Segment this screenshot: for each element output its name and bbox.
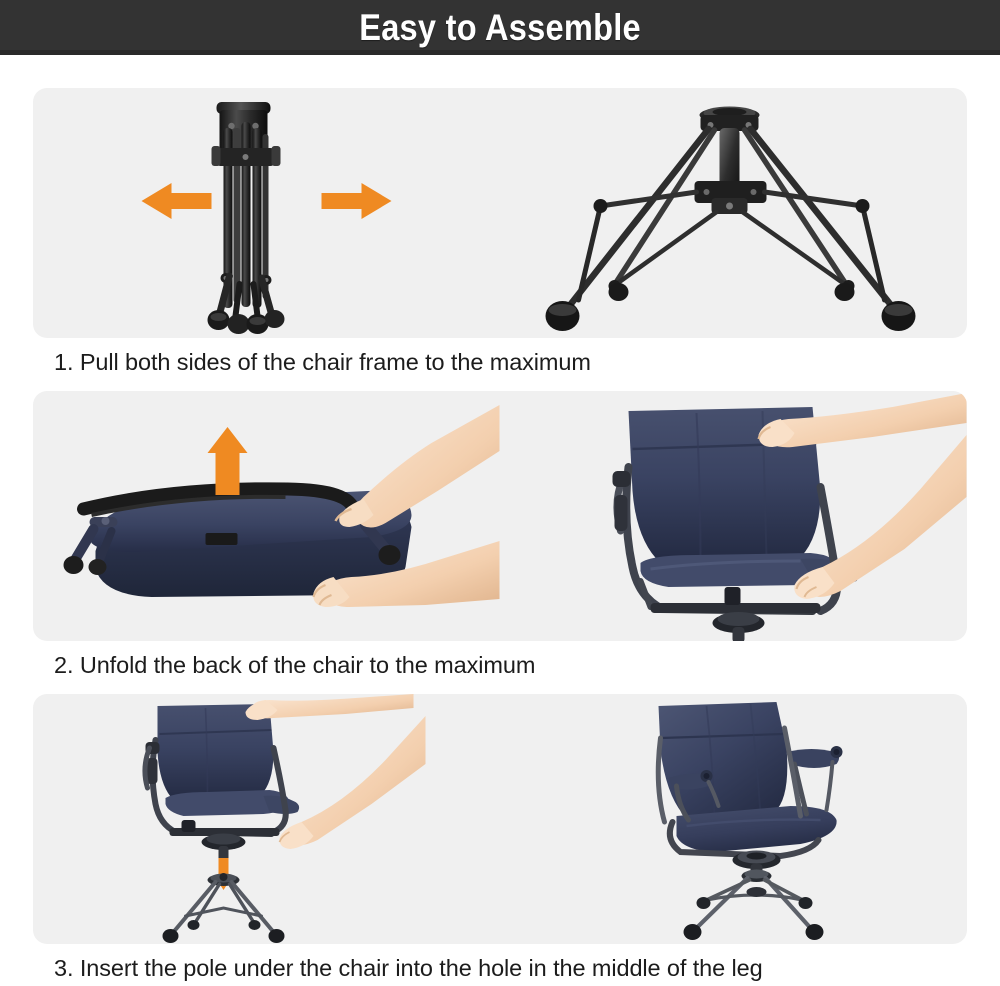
assembly-steps-list: 1. Pull both sides of the chair frame to… <box>0 88 1000 984</box>
inserting-pole-into-base-illustration <box>33 694 500 944</box>
assembly-step-1: 1. Pull both sides of the chair frame to… <box>33 88 967 378</box>
step-3-right-image <box>500 694 967 944</box>
page-title: Easy to Assemble <box>359 9 641 46</box>
arrow-right-icon <box>322 183 392 219</box>
step-2-image-panel <box>33 391 967 641</box>
step-2-caption: 2. Unfold the back of the chair to the m… <box>33 641 967 681</box>
header-bar: Easy to Assemble <box>0 0 1000 55</box>
step-1-caption: 1. Pull both sides of the chair frame to… <box>33 338 967 378</box>
assembled-chair-illustration <box>500 694 967 944</box>
step-3-left-image <box>33 694 500 944</box>
step-3-image-panel <box>33 694 967 944</box>
step-1-right-image <box>500 88 967 338</box>
folded-seat-with-hands-illustration <box>33 391 500 641</box>
arrow-left-icon <box>142 183 212 219</box>
assembly-step-3: 3. Insert the pole under the chair into … <box>33 694 967 984</box>
step-3-caption: 3. Insert the pole under the chair into … <box>33 944 967 984</box>
assembly-step-2: 2. Unfold the back of the chair to the m… <box>33 391 967 681</box>
unfolding-chair-back-illustration <box>500 391 967 641</box>
step-2-right-image <box>500 391 967 641</box>
step-2-left-image <box>33 391 500 641</box>
step-1-left-image <box>33 88 500 338</box>
unfolded-base-frame-illustration <box>500 88 967 338</box>
step-1-image-panel <box>33 88 967 338</box>
folded-base-frame-illustration <box>33 88 500 338</box>
